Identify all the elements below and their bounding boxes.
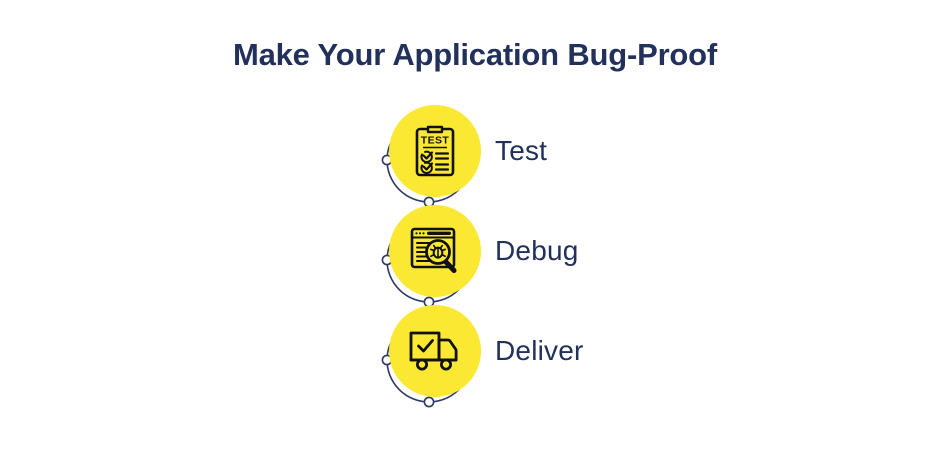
list-item[interactable]: TEST Test (375, 103, 795, 203)
debug-bug-magnifier-icon (389, 205, 481, 297)
list-item[interactable]: Deliver (375, 303, 795, 403)
page-title: Make Your Application Bug-Proof (0, 34, 950, 76)
step-label: Test (495, 103, 547, 199)
infographic-canvas: Make Your Application Bug-Proof TEST (0, 0, 950, 456)
steps-list: TEST Test (375, 98, 795, 418)
step-label: Deliver (495, 303, 584, 399)
deliver-truck-icon (389, 305, 481, 397)
step-label: Debug (495, 203, 579, 299)
test-clipboard-icon: TEST (389, 105, 481, 197)
list-item[interactable]: Debug (375, 203, 795, 303)
svg-text:TEST: TEST (421, 135, 450, 147)
